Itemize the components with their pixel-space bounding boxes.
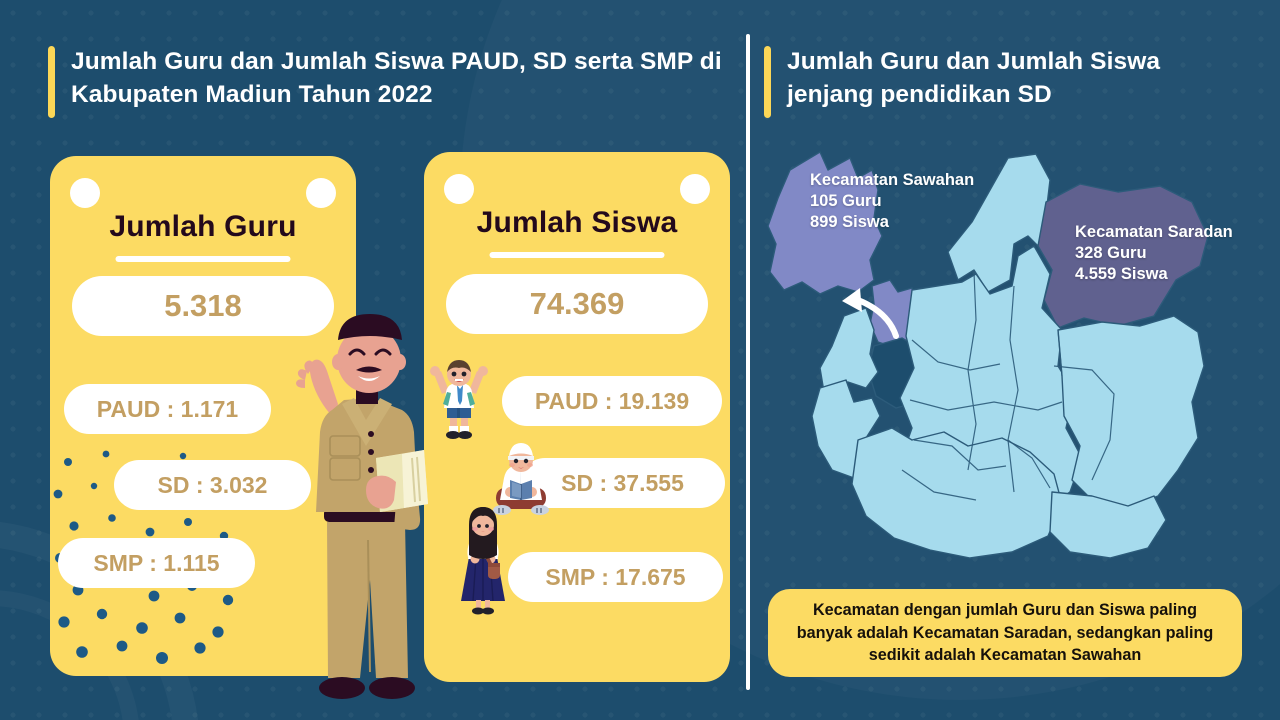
- card-jumlah-siswa-heading: Jumlah Siswa: [424, 206, 730, 240]
- card-title-underline: [116, 256, 291, 262]
- jumlah-siswa-total: 74.369: [446, 274, 708, 334]
- map-label-saradan-district: Kecamatan Saradan: [1075, 222, 1233, 243]
- card-jumlah-guru-heading: Jumlah Guru: [50, 210, 356, 244]
- map-label-sawahan-students: 899 Siswa: [810, 212, 974, 233]
- right-panel-title-text: Jumlah Guru dan Jumlah Siswa jenjang pen…: [787, 46, 1234, 111]
- jumlah-guru-smp: SMP : 1.115: [58, 538, 255, 588]
- card-hole-right-icon: [680, 174, 710, 204]
- jumlah-guru-paud: PAUD : 1.171: [64, 384, 271, 434]
- jumlah-siswa-smp: SMP : 17.675: [508, 552, 723, 602]
- panel-divider: [746, 34, 750, 690]
- jumlah-siswa-paud: PAUD : 19.139: [502, 376, 722, 426]
- card-title-underline: [490, 252, 665, 258]
- card-hole-left-icon: [70, 178, 100, 208]
- card-hole-left-icon: [444, 174, 474, 204]
- card-hole-right-icon: [306, 178, 336, 208]
- map-label-sawahan-teachers: 105 Guru: [810, 191, 974, 212]
- map-label-saradan-students: 4.559 Siswa: [1075, 264, 1233, 285]
- title-accent-bar: [48, 46, 55, 118]
- student-smp-illustration: [452, 505, 514, 617]
- right-panel-title: Jumlah Guru dan Jumlah Siswa jenjang pen…: [764, 46, 1234, 118]
- student-paud-illustration: [428, 358, 490, 440]
- title-accent-bar: [764, 46, 771, 118]
- map-summary-caption-text: Kecamatan dengan jumlah Guru dan Siswa p…: [784, 599, 1226, 666]
- left-panel-title: Jumlah Guru dan Jumlah Siswa PAUD, SD se…: [48, 46, 728, 118]
- map-label-saradan: Kecamatan Saradan 328 Guru 4.559 Siswa: [1075, 222, 1233, 285]
- left-panel-title-text: Jumlah Guru dan Jumlah Siswa PAUD, SD se…: [71, 46, 728, 111]
- map-label-sawahan-district: Kecamatan Sawahan: [810, 170, 974, 191]
- map-label-sawahan: Kecamatan Sawahan 105 Guru 899 Siswa: [810, 170, 974, 233]
- map-summary-caption: Kecamatan dengan jumlah Guru dan Siswa p…: [768, 589, 1242, 677]
- map-label-saradan-teachers: 328 Guru: [1075, 243, 1233, 264]
